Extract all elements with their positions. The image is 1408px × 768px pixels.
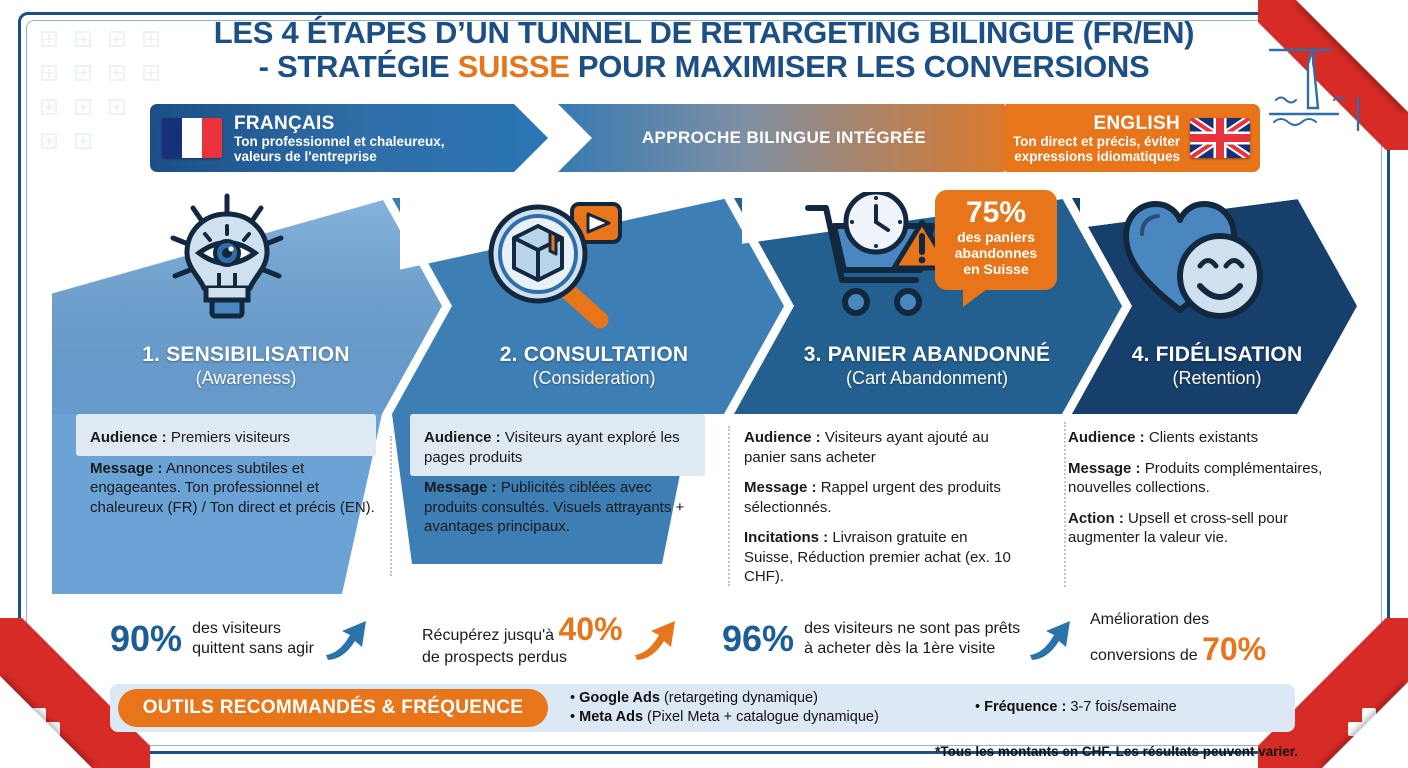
detail-4-0: Audience : Clients existants	[1068, 428, 1336, 448]
stat-2-value: 40%	[558, 611, 622, 647]
title-line-2-before: - STRATÉGIE	[259, 49, 458, 84]
stat-4: Amélioration des conversions de 70%	[1090, 608, 1266, 670]
statistics-row: 90% des visiteurs quittent sans agir Réc…	[52, 608, 1362, 670]
stat-2: Récupérez jusqu'à 40% de prospects perdu…	[422, 608, 679, 670]
detail-2-0: Audience : Visiteurs ayant exploré les p…	[424, 428, 709, 467]
footnote: *Tous les montants en CHF. Les résultats…	[935, 744, 1298, 759]
bilingual-middle-arrow: APPROCHE BILINGUE INTÉGRÉE	[524, 104, 1044, 172]
callout-line2: abandonnes	[935, 245, 1057, 261]
bilingual-middle-label: APPROCHE BILINGUE INTÉGRÉE	[642, 128, 926, 148]
stage-label-4: 4. FIDÉLISATION (Retention)	[1092, 343, 1342, 389]
tools-list: • Google Ads (retargeting dynamique) • M…	[570, 689, 879, 727]
tools-bar: OUTILS RECOMMANDÉS & FRÉQUENCE • Google …	[110, 684, 1295, 732]
arrow-up-orange-icon	[631, 617, 679, 661]
stat-4-caption-line2: conversions de 70%	[1090, 630, 1266, 668]
tool-detail-0: (retargeting dynamique)	[660, 690, 818, 706]
stat-2-caption-text: Récupérez jusqu'à	[422, 627, 554, 644]
detail-4-0-text: Clients existants	[1145, 429, 1258, 446]
detail-1-1: Message : Annonces subtiles et engageant…	[90, 459, 382, 518]
france-flag-icon	[162, 118, 222, 158]
stat-3-caption-line1: des visiteurs ne sont pas prêts	[804, 619, 1020, 639]
stat-2-caption: Récupérez jusqu'à 40% de prospects perdu…	[422, 610, 623, 668]
tool-item-0: • Google Ads (retargeting dynamique)	[570, 689, 879, 708]
tool-bullet-1: •	[570, 709, 575, 725]
detail-3-0-label: Audience :	[744, 429, 821, 446]
tool-detail-1: (Pixel Meta + catalogue dynamique)	[643, 709, 879, 725]
stage-title-1: 1. SENSIBILISATION	[76, 343, 416, 367]
french-subtitle-line2: valeurs de l'entreprise	[234, 149, 445, 164]
stage-label-2: 2. CONSULTATION (Consideration)	[424, 343, 764, 389]
english-subtitle-line2: expressions idiomatiques	[1013, 149, 1180, 164]
stage-subtitle-2: (Consideration)	[424, 367, 764, 389]
frequency-value: 3-7 fois/semaine	[1066, 699, 1176, 715]
arrow-up-blue-icon	[1026, 617, 1074, 661]
stat-3-caption-line2: à acheter dès la 1ère visite	[804, 639, 1020, 659]
stat-4-caption-text: conversions de	[1090, 647, 1198, 664]
detail-3-2: Incitations : Livraison gratuite en Suis…	[744, 528, 1019, 587]
callout-line1: des paniers	[935, 229, 1057, 245]
stat-2-caption-line2: de prospects perdus	[422, 648, 623, 668]
stage-details-1: Audience : Premiers visiteurs Message : …	[90, 428, 382, 517]
english-language-box: ENGLISH Ton direct et précis, éviter exp…	[1006, 104, 1260, 172]
tool-name-1: Meta Ads	[579, 709, 643, 725]
detail-4-2: Action : Upsell et cross-sell pour augme…	[1068, 509, 1336, 548]
tool-item-1: • Meta Ads (Pixel Meta + catalogue dynam…	[570, 708, 879, 727]
stat-1-value: 90%	[110, 620, 182, 658]
stat-4-value: 70%	[1202, 631, 1266, 667]
detail-1-0-text: Premiers visiteurs	[167, 429, 290, 446]
stage-subtitle-4: (Retention)	[1092, 367, 1342, 389]
detail-4-1-label: Message :	[1068, 460, 1141, 477]
detail-3-0: Audience : Visiteurs ayant ajouté au pan…	[744, 428, 1019, 467]
page-curl-bottom-right	[1322, 682, 1408, 768]
stat-3-caption: des visiteurs ne sont pas prêts à achete…	[804, 619, 1020, 659]
divider-2	[728, 426, 730, 586]
stage-details-2: Audience : Visiteurs ayant exploré les p…	[424, 428, 709, 537]
frequency-label: Fréquence :	[984, 699, 1066, 715]
lightbulb-eye-icon	[157, 190, 297, 330]
stage-subtitle-1: (Awareness)	[76, 367, 416, 389]
detail-2-1: Message : Publicités ciblées avec produi…	[424, 478, 709, 537]
stage-title-3: 3. PANIER ABANDONNÉ	[752, 343, 1102, 367]
abandoned-cart-icon	[804, 192, 954, 322]
stage-details-4: Audience : Clients existants Message : P…	[1068, 428, 1336, 548]
stage-label-1: 1. SENSIBILISATION (Awareness)	[76, 343, 416, 389]
stage-details-3: Audience : Visiteurs ayant ajouté au pan…	[744, 428, 1019, 587]
tool-bullet-0: •	[570, 690, 575, 706]
stat-3: 96% des visiteurs ne sont pas prêts à ac…	[722, 608, 1074, 670]
english-subtitle-line1: Ton direct et précis, éviter	[1013, 134, 1180, 149]
heart-smiley-icon	[1120, 192, 1270, 322]
title-line-1: LES 4 ÉTAPES D’UN TUNNEL DE RETARGETING …	[214, 15, 1194, 50]
magnifier-box-video-icon	[484, 192, 629, 332]
detail-1-0: Audience : Premiers visiteurs	[90, 428, 382, 448]
tool-name-0: Google Ads	[579, 690, 660, 706]
bilingual-approach-band: APPROCHE BILINGUE INTÉGRÉE FRANÇAIS Ton …	[150, 104, 1260, 172]
callout-value: 75%	[935, 197, 1057, 229]
stage-label-3: 3. PANIER ABANDONNÉ (Cart Abandonment)	[752, 343, 1102, 389]
stat-4-caption-line1: Amélioration des	[1090, 610, 1266, 630]
divider-3	[1064, 422, 1066, 587]
tools-pill-label: OUTILS RECOMMANDÉS & FRÉQUENCE	[118, 689, 548, 727]
detail-4-0-label: Audience :	[1068, 429, 1145, 446]
callout-line3: en Suisse	[935, 261, 1057, 277]
detail-1-1-label: Message :	[90, 460, 163, 477]
stat-1-caption: des visiteurs quittent sans agir	[192, 619, 314, 659]
detail-3-1: Message : Rappel urgent des produits sél…	[744, 478, 1019, 517]
page-title: LES 4 ÉTAPES D’UN TUNNEL DE RETARGETING …	[0, 16, 1408, 84]
detail-3-2-label: Incitations :	[744, 529, 828, 546]
stat-4-caption: Amélioration des conversions de 70%	[1090, 610, 1266, 668]
detail-1-0-label: Audience :	[90, 429, 167, 446]
stage-title-2: 2. CONSULTATION	[424, 343, 764, 367]
page-curl-bottom-left	[0, 676, 92, 768]
detail-3-1-label: Message :	[744, 479, 817, 496]
stat-2-caption-line1: Récupérez jusqu'à 40%	[422, 610, 623, 648]
detail-2-0-label: Audience :	[424, 429, 501, 446]
stage-title-4: 4. FIDÉLISATION	[1092, 343, 1342, 367]
title-line-2-after: POUR MAXIMISER LES CONVERSIONS	[570, 49, 1150, 84]
stage-subtitle-3: (Cart Abandonment)	[752, 367, 1102, 389]
uk-flag-icon	[1190, 118, 1250, 158]
detail-4-2-label: Action :	[1068, 510, 1124, 527]
french-title: FRANÇAIS	[234, 113, 445, 134]
arrow-up-blue-icon	[322, 617, 370, 661]
stat-1-caption-line2: quittent sans agir	[192, 639, 314, 659]
french-subtitle-line1: Ton professionnel et chaleureux,	[234, 134, 445, 149]
infographic-root: LES 4 ÉTAPES D’UN TUNNEL DE RETARGETING …	[0, 0, 1408, 768]
stat-1-caption-line1: des visiteurs	[192, 619, 314, 639]
divider-1	[390, 436, 392, 576]
french-language-box: FRANÇAIS Ton professionnel et chaleureux…	[150, 104, 548, 172]
stat-3-value: 96%	[722, 620, 794, 658]
frequency-bullet: •	[975, 699, 980, 715]
cart-abandon-callout: 75% des paniers abandonnes en Suisse	[935, 190, 1057, 290]
funnel-stages: 1. SENSIBILISATION (Awareness) 2. CONSUL…	[52, 186, 1362, 606]
detail-2-1-label: Message :	[424, 479, 497, 496]
stat-1: 90% des visiteurs quittent sans agir	[110, 608, 370, 670]
tools-frequency: • Fréquence : 3-7 fois/semaine	[975, 699, 1177, 715]
detail-4-1: Message : Produits complémentaires, nouv…	[1068, 459, 1336, 498]
english-title: ENGLISH	[1013, 113, 1180, 134]
title-highlight: SUISSE	[458, 49, 570, 84]
